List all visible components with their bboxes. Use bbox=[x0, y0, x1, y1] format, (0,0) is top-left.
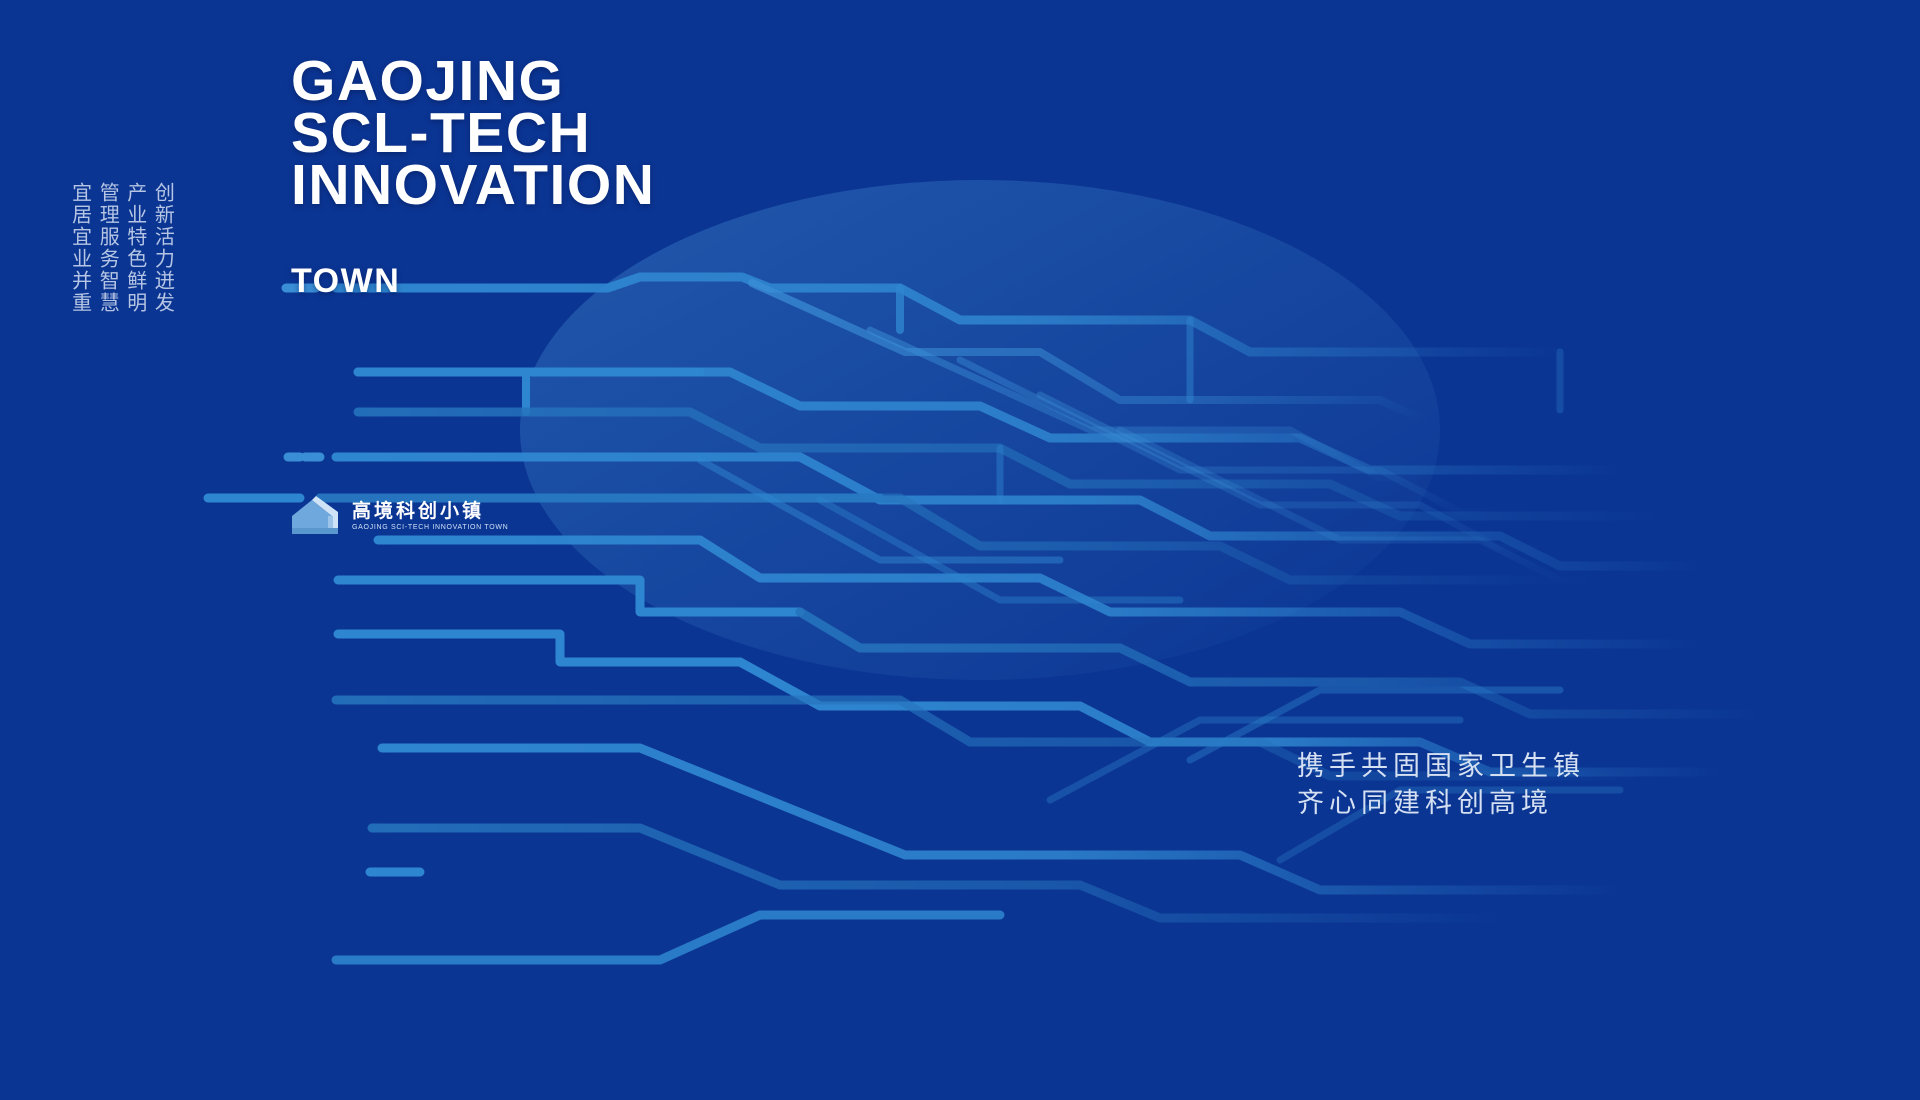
vertical-slogan-column: 管理服务智慧 bbox=[96, 182, 120, 314]
house-building-icon bbox=[290, 496, 342, 536]
title-line-3: INNOVATION bbox=[291, 159, 655, 211]
bottom-slogan-line-1: 携手共固国家卫生镇 bbox=[1297, 748, 1585, 785]
circuit-line-network bbox=[0, 0, 1920, 1100]
bottom-slogan: 携手共固国家卫生镇 齐心同建科创高境 bbox=[1297, 748, 1585, 822]
title-line-4: TOWN bbox=[291, 262, 400, 301]
bottom-slogan-line-2: 齐心同建科创高境 bbox=[1297, 785, 1585, 822]
logo-text-block: 高境科创小镇 GAOJING SCI-TECH INNOVATION TOWN bbox=[352, 501, 508, 532]
vertical-slogan: 创新活力迸发 产业特色鲜明 管理服务智慧 宜居宜业并重 bbox=[68, 182, 174, 314]
page-title: GAOJING SCL-TECH INNOVATION bbox=[291, 55, 655, 211]
vertical-slogan-column: 创新活力迸发 bbox=[151, 182, 175, 314]
title-line-1: GAOJING bbox=[291, 55, 655, 107]
logo-name-en: GAOJING SCI-TECH INNOVATION TOWN bbox=[352, 523, 508, 532]
logo-lockup: 高境科创小镇 GAOJING SCI-TECH INNOVATION TOWN bbox=[290, 496, 508, 536]
logo-name-cn: 高境科创小镇 bbox=[352, 501, 508, 521]
poster-canvas: 创新活力迸发 产业特色鲜明 管理服务智慧 宜居宜业并重 GAOJING SCL-… bbox=[0, 0, 1920, 1100]
title-line-2: SCL-TECH bbox=[291, 107, 655, 159]
vertical-slogan-column: 产业特色鲜明 bbox=[123, 182, 147, 314]
vertical-slogan-column: 宜居宜业并重 bbox=[68, 182, 92, 314]
